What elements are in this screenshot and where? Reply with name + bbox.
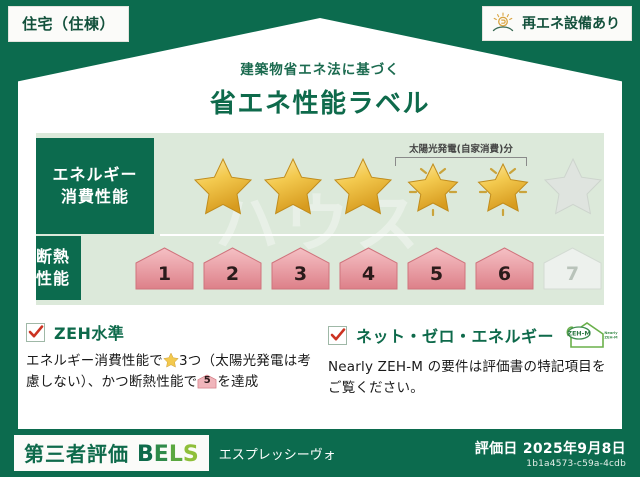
- insulation-badge-6: 6: [473, 245, 536, 292]
- renewable-energy-badge: 再エネ設備あり: [482, 6, 632, 41]
- star-3: [332, 156, 394, 216]
- insulation-badge-6-value: 6: [498, 263, 511, 292]
- solar-annotation-bracket: [395, 157, 527, 166]
- building-type-tag: 住宅（住棟）: [8, 6, 129, 42]
- insulation-badge-7-value: 7: [566, 263, 579, 292]
- insulation-badge-5: 5: [405, 245, 468, 292]
- checkmark-icon: [26, 323, 45, 342]
- svg-text:ZEH-M: ZEH-M: [567, 330, 590, 338]
- zeh-standard-body: エネルギー消費性能で3つ（太陽光発電は考慮しない）、かつ断熱性能で5を達成: [26, 351, 312, 393]
- net-zero-energy-block: ネット・ゼロ・エネルギー ZEH-M Nearly ZEH-M Nearly Z…: [328, 320, 614, 399]
- bels-letter-e: E: [154, 442, 169, 467]
- sun-icon: [491, 12, 515, 34]
- ratings-panel: ハウス エネルギー 消費性能: [36, 133, 604, 305]
- insulation-performance-row: 断熱性能 1 2 3 4: [36, 236, 604, 300]
- insulation-badge-4: 4: [337, 245, 400, 292]
- bels-letter-s: S: [183, 442, 199, 467]
- net-zero-header: ネット・ゼロ・エネルギー ZEH-M Nearly ZEH-M: [328, 320, 614, 350]
- energy-label-root: 住宅（住棟） 再エネ設備あり 建築物省エネ法に基づく 省エネ性能ラベル ハウス: [0, 0, 640, 477]
- star-rating: [154, 156, 604, 216]
- zeh-body-part3: を達成: [217, 374, 258, 390]
- svg-text:ZEH-M: ZEH-M: [604, 335, 618, 339]
- solar-annotation: 太陽光発電(自家消費)分: [395, 141, 527, 166]
- insulation-badge-1: 1: [133, 245, 196, 292]
- label-title: 省エネ性能ラベル: [0, 83, 640, 120]
- star-6-empty: [542, 156, 604, 216]
- document-id: 1b1a4573-c59a-4cdb: [475, 459, 626, 469]
- evaluation-date: 評価日 2025年9月8日: [475, 438, 626, 458]
- zeh-standard-title: ZEH水準: [54, 320, 124, 344]
- net-zero-title: ネット・ゼロ・エネルギー: [356, 323, 554, 347]
- renewable-badge-label: 再エネ設備あり: [522, 13, 620, 33]
- bels-letter-l: L: [169, 442, 183, 467]
- inline-star-icon: [163, 352, 179, 368]
- zeh-standard-header: ZEH水準: [26, 320, 312, 344]
- star-2: [262, 156, 324, 216]
- energy-performance-row: エネルギー 消費性能: [36, 138, 604, 234]
- energy-label-line1: エネルギー: [52, 164, 137, 186]
- insulation-badge-7-empty: 7: [541, 245, 604, 292]
- insulation-badge-4-value: 4: [362, 263, 375, 292]
- zeh-m-logo-icon: ZEH-M Nearly ZEH-M: [565, 320, 619, 350]
- inline-house-value: 5: [197, 373, 217, 390]
- inline-house-badge-icon: 5: [197, 373, 217, 390]
- footer-meta: 評価日 2025年9月8日 1b1a4573-c59a-4cdb: [475, 438, 626, 469]
- bels-logo: 第三者評価 BELS: [14, 435, 209, 471]
- panel-divider: [160, 234, 604, 236]
- insulation-badge-5-value: 5: [430, 263, 443, 292]
- star-1: [192, 156, 254, 216]
- insulation-badge-3-value: 3: [294, 263, 307, 292]
- info-section: ZEH水準 エネルギー消費性能で3つ（太陽光発電は考慮しない）、かつ断熱性能で5…: [26, 320, 614, 399]
- zeh-body-part1: エネルギー消費性能で: [26, 353, 163, 369]
- checkmark-icon: [328, 326, 347, 345]
- insulation-scale: 1 2 3 4 5: [81, 245, 604, 292]
- energy-performance-label: エネルギー 消費性能: [36, 138, 154, 234]
- insulation-label-text: 断熱性能: [36, 246, 81, 289]
- bels-japanese-label: 第三者評価: [24, 438, 129, 467]
- building-name: エスプレッシーヴォ: [219, 444, 336, 463]
- insulation-badge-2-value: 2: [226, 263, 239, 292]
- insulation-performance-label: 断熱性能: [36, 236, 81, 300]
- bels-english-label: BELS: [137, 442, 199, 467]
- zeh-standard-block: ZEH水準 エネルギー消費性能で3つ（太陽光発電は考慮しない）、かつ断熱性能で5…: [26, 320, 312, 399]
- svg-text:Nearly: Nearly: [604, 331, 618, 335]
- bels-letter-b: B: [137, 442, 154, 467]
- net-zero-body: Nearly ZEH-M の要件は評価書の特記項目をご覧ください。: [328, 357, 614, 399]
- insulation-badge-2: 2: [201, 245, 264, 292]
- footer-bar: 第三者評価 BELS エスプレッシーヴォ 評価日 2025年9月8日 1b1a4…: [0, 429, 640, 477]
- solar-annotation-text: 太陽光発電(自家消費)分: [395, 141, 527, 155]
- energy-label-line2: 消費性能: [61, 186, 129, 208]
- insulation-badge-1-value: 1: [158, 263, 171, 292]
- label-subtitle: 建築物省エネ法に基づく: [0, 58, 640, 78]
- heading-block: 建築物省エネ法に基づく 省エネ性能ラベル: [0, 58, 640, 120]
- insulation-badge-3: 3: [269, 245, 332, 292]
